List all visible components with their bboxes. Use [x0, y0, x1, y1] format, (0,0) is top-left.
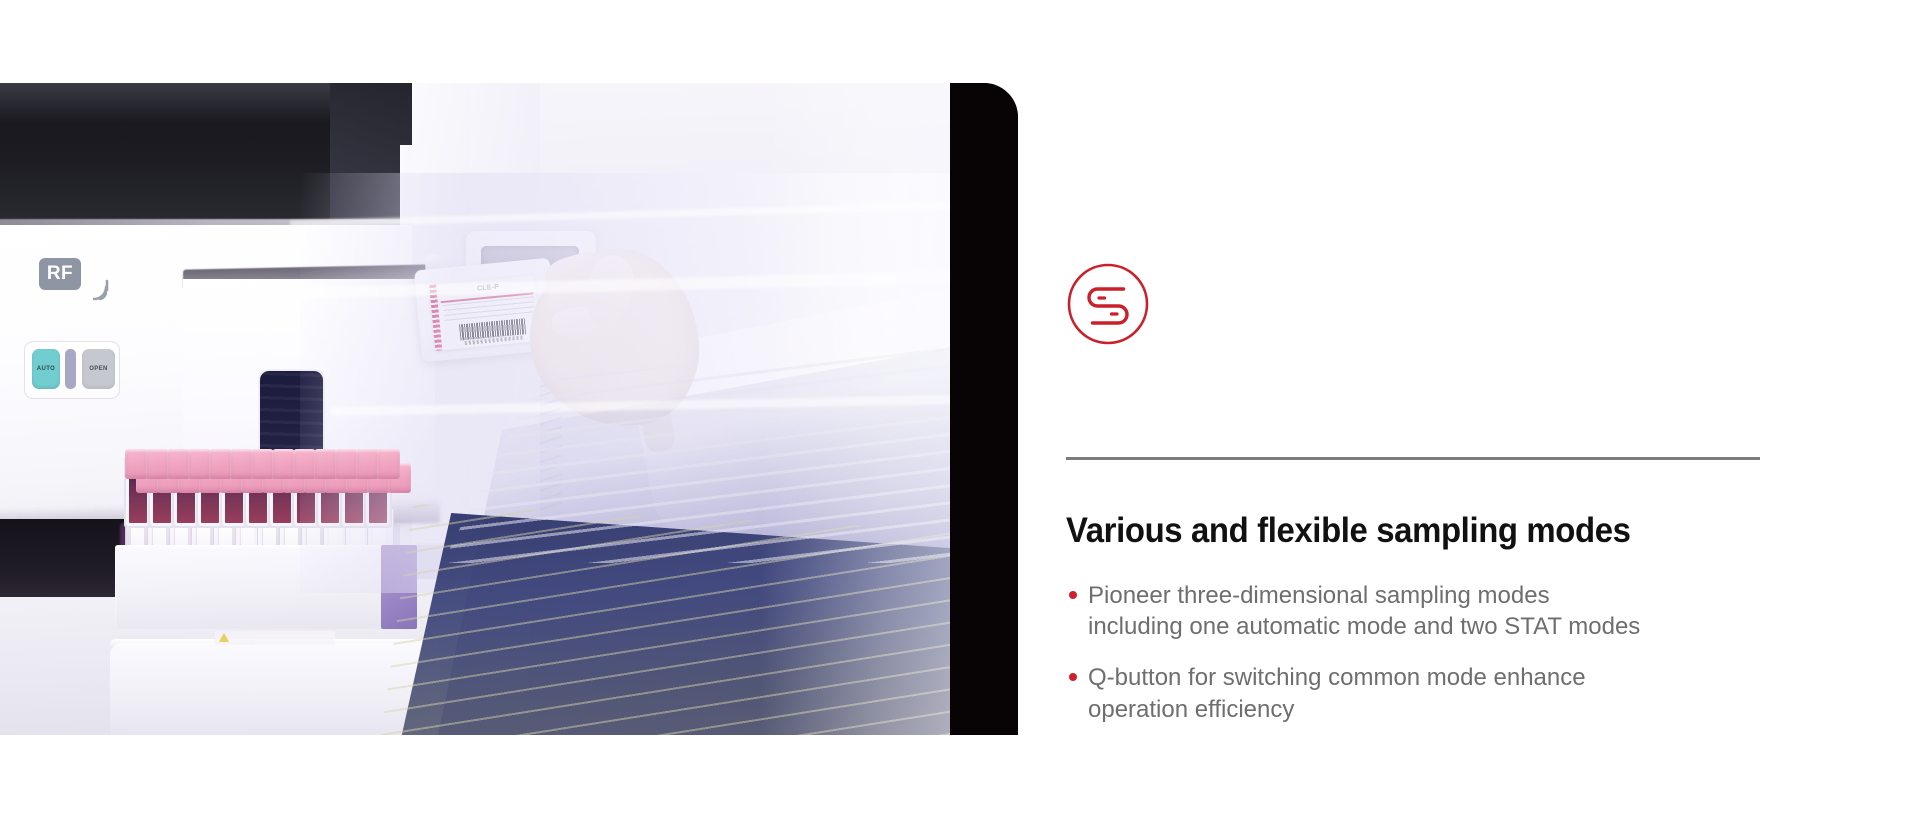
tube-cap-pink	[188, 449, 211, 479]
list-item: Pioneer three-dimensional sampling modes…	[1066, 580, 1648, 642]
open-button[interactable]: OPEN	[82, 349, 115, 389]
rack-frame	[115, 545, 415, 629]
tube-cap-pink	[251, 449, 274, 479]
tube-cap-pink	[335, 449, 358, 479]
rf-badge: RF	[39, 258, 81, 290]
button-separator	[65, 349, 76, 389]
wireless-signal-icon	[86, 273, 120, 307]
rack-warning-triangle-icon	[219, 633, 229, 642]
serpentine-s-circle-icon	[1066, 262, 1150, 346]
rack-caution-sticker	[215, 631, 335, 645]
tube-cap-pink	[314, 449, 337, 479]
tube-cap-pink	[272, 449, 295, 479]
bullet-dot-icon	[1069, 591, 1077, 599]
section-divider	[1066, 457, 1760, 460]
tube-cap-pink	[167, 449, 190, 479]
feature-bullet-list: Pioneer three-dimensional sampling modes…	[1066, 580, 1766, 745]
product-photo-panel: RF AUTO OPEN	[0, 83, 1018, 735]
photo-edge-band	[950, 83, 1018, 735]
tube-cap-pink	[377, 449, 400, 479]
list-item-text: Q-button for switching common mode enhan…	[1088, 664, 1586, 722]
tube-cap-pink	[293, 449, 316, 479]
product-photo: RF AUTO OPEN	[0, 83, 952, 735]
tube-cap-pink	[209, 449, 232, 479]
tube-cap-pink	[146, 449, 169, 479]
bench-front-panel	[110, 643, 440, 735]
sample-tube-rack	[125, 449, 405, 629]
auto-button[interactable]: AUTO	[32, 349, 60, 389]
tube-cap-pink	[230, 449, 253, 479]
tube-cap-pink	[125, 449, 148, 479]
list-item: Q-button for switching common mode enhan…	[1066, 662, 1648, 724]
page-title: Various and flexible sampling modes	[1066, 511, 1718, 550]
list-item-text: Pioneer three-dimensional sampling modes…	[1088, 582, 1640, 640]
tube-cap-pink	[356, 449, 379, 479]
feature-content-column: Various and flexible sampling modes Pion…	[1066, 0, 1766, 818]
bullet-dot-icon	[1069, 673, 1077, 681]
rack-end-block	[381, 545, 417, 629]
slide-root: RF AUTO OPEN	[0, 0, 1920, 818]
cartridge-label: CLE-P	[429, 275, 541, 351]
